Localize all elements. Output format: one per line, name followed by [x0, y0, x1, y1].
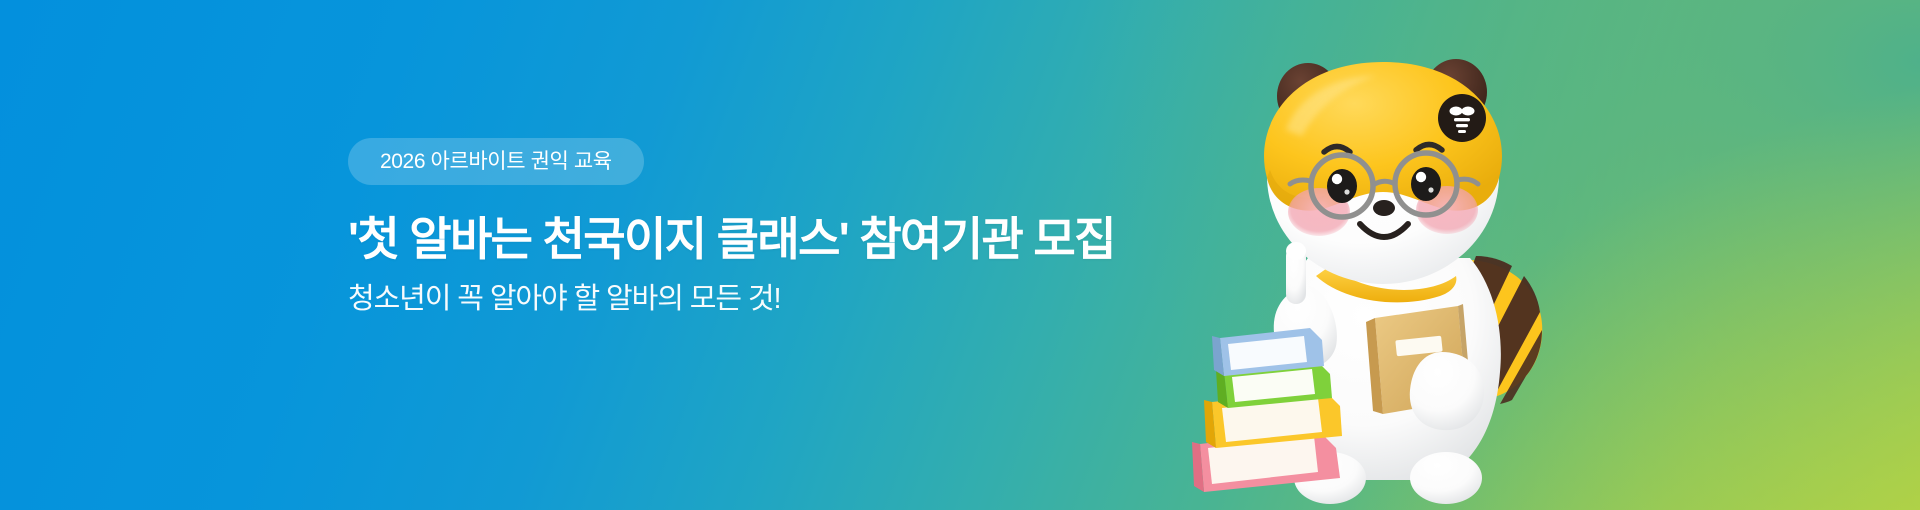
- bee-bear-character-icon: [1190, 0, 1610, 510]
- book-stack-icon: [1192, 328, 1342, 492]
- nose-icon: [1373, 200, 1395, 216]
- promo-banner: 2026 아르바이트 권익 교육 '첫 알바는 천국이지 클래스' 참여기관 모…: [0, 0, 1920, 510]
- left-eye-icon: [1327, 169, 1357, 203]
- campaign-badge: 2026 아르바이트 권익 교육: [348, 138, 644, 185]
- right-foot-icon: [1410, 452, 1482, 504]
- banner-text-block: 2026 아르바이트 권익 교육 '첫 알바는 천국이지 클래스' 참여기관 모…: [348, 138, 1115, 316]
- banner-subtitle: 청소년이 꼭 알아야 할 알바의 모든 것!: [348, 282, 780, 317]
- banner-headline: '첫 알바는 천국이지 클래스' 참여기관 모집: [348, 214, 1115, 266]
- mascot-illustration: [1190, 0, 1610, 510]
- right-eye-icon: [1411, 167, 1441, 201]
